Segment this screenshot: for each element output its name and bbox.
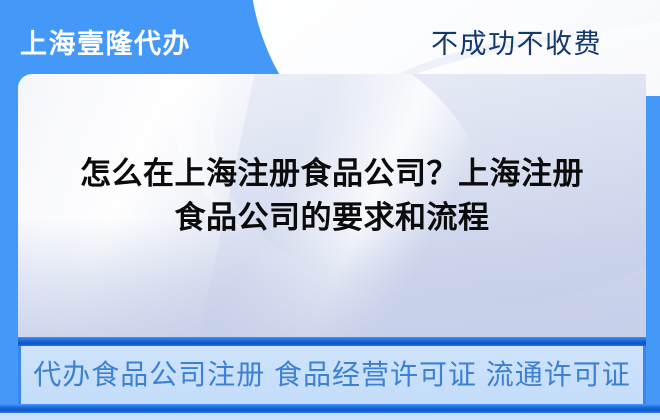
guarantee-slogan-label: 不成功不收费 [431, 22, 602, 61]
card-bottom-divider [18, 337, 646, 346]
footer-accent-bar [0, 404, 660, 413]
services-panel: 代办食品公司注册 食品经营许可证 流通许可证 [18, 346, 646, 404]
headline-line-1: 怎么在上海注册食品公司？上海注册 [18, 152, 646, 196]
promo-banner: 上海壹隆代办 不成功不收费 怎么在上海注册食品公司？上海注册 食品公司的要求和流… [0, 0, 660, 420]
headline-line-2: 食品公司的要求和流程 [18, 196, 646, 240]
company-name-label: 上海壹隆代办 [20, 22, 191, 61]
headline-card: 怎么在上海注册食品公司？上海注册 食品公司的要求和流程 [18, 74, 646, 338]
services-label: 代办食品公司注册 食品经营许可证 流通许可证 [21, 346, 643, 404]
page-title: 怎么在上海注册食品公司？上海注册 食品公司的要求和流程 [18, 152, 646, 240]
footer-base-strip [0, 413, 660, 420]
